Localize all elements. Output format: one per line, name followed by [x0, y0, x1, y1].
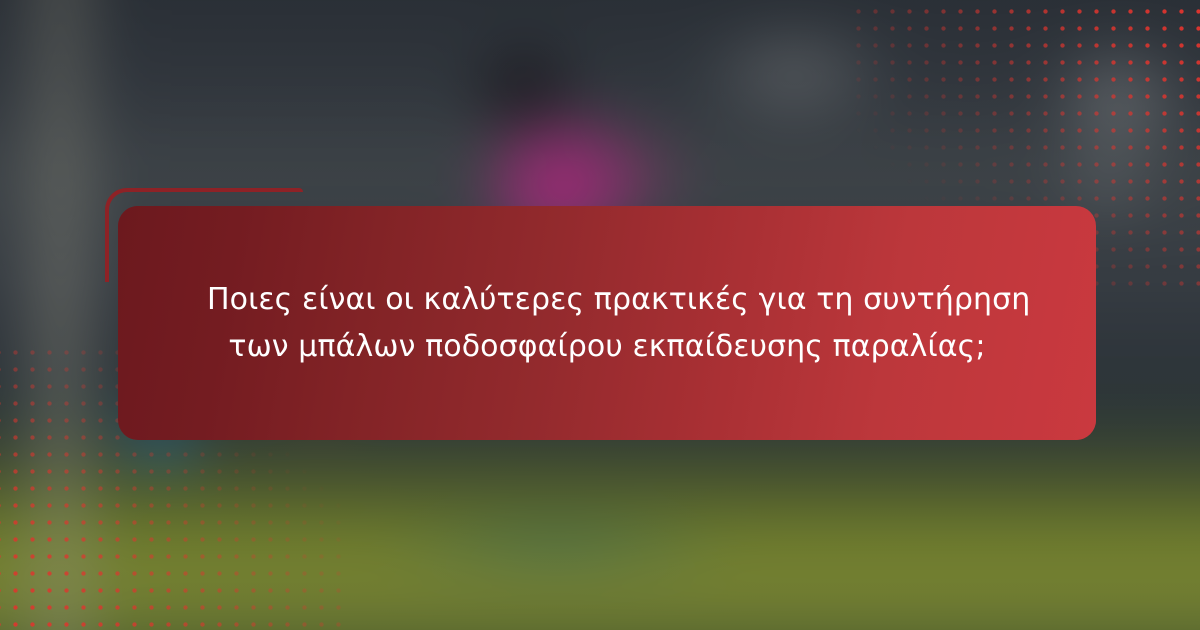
question-line-1: Ποιες είναι οι καλύτερες πρακτικές για τ… [207, 276, 1007, 323]
question-text: Ποιες είναι οι καλύτερες πρακτικές για τ… [197, 276, 1017, 371]
social-card-canvas: Ποιες είναι οι καλύτερες πρακτικές για τ… [0, 0, 1200, 630]
question-card: Ποιες είναι οι καλύτερες πρακτικές για τ… [0, 0, 1200, 630]
question-line-2: των μπάλων ποδοσφαίρου εκπαίδευσης παραλ… [207, 323, 1007, 370]
card-body: Ποιες είναι οι καλύτερες πρακτικές για τ… [118, 206, 1096, 440]
